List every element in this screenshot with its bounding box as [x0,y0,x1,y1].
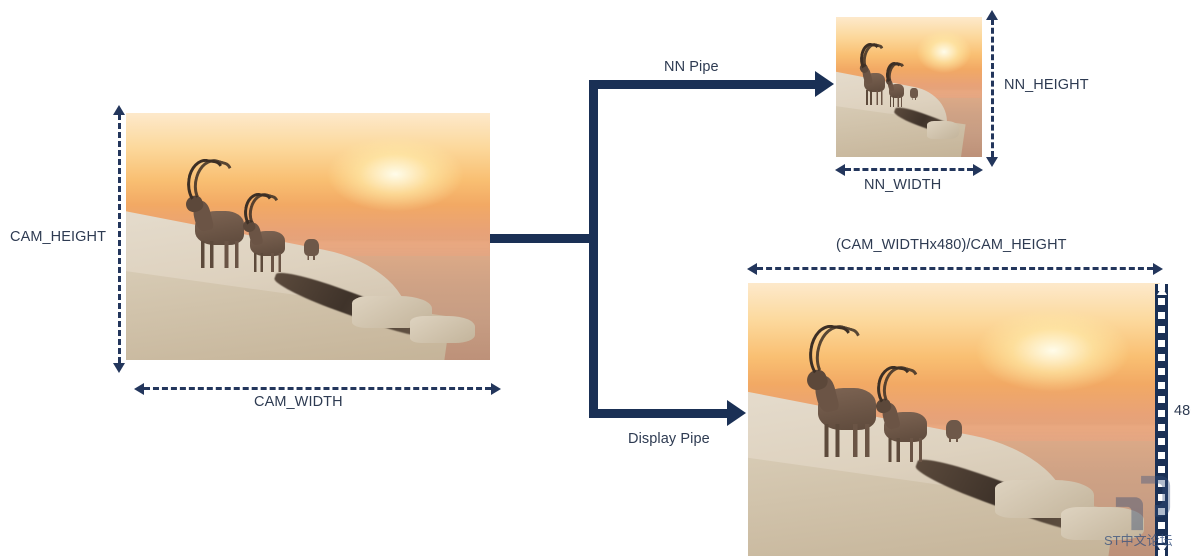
photo-ibex-kid [910,88,917,98]
display-width-arrow-left [747,263,757,275]
pipe-vertical-trunk [589,80,598,418]
ibex-legs [886,438,926,462]
ibex-legs [821,424,876,456]
ibex-legs [252,253,285,273]
nn-height-arrow-up [986,10,998,20]
nn-height-label: NN_HEIGHT [1004,78,1089,94]
ibex-legs [198,241,244,268]
cam-width-arrow-left [134,383,144,395]
display-width-label: (CAM_WIDTHx480)/CAM_HEIGHT [836,238,1067,254]
cam-height-dimension-line [118,114,121,363]
diagram-canvas: CAM_HEIGHT CAM_WIDTH NN Pipe Display Pip… [0,0,1191,556]
pipe-display-arrowhead [727,400,746,426]
pipe-nn-arrowhead [815,71,834,97]
cam-width-dimension-line [144,387,491,390]
nn-height-arrow-down [986,157,998,167]
cam-height-label: CAM_HEIGHT [10,230,106,246]
display-frame-image [748,283,1160,556]
photo-rock-slab [927,121,959,139]
cam-height-arrow-down [113,363,125,373]
nn-width-arrow-left [835,164,845,176]
camera-frame-image [126,113,490,360]
nn-width-arrow-right [973,164,983,176]
nn-pipe-label: NN Pipe [664,60,719,76]
display-width-dimension-line [757,267,1153,270]
display-pipe-label: Display Pipe [628,432,710,448]
display-height-label: 480 [1174,404,1191,420]
photo-ibex-small [250,217,297,271]
display-height-arrow-up [1157,287,1167,295]
cam-height-arrow-up [113,105,125,115]
pipe-nn-branch [589,80,817,89]
watermark-text: ST中文论坛 [1104,530,1173,549]
pipe-display-branch [589,409,729,418]
display-height-dimension-bar [1155,284,1168,556]
cam-width-arrow-right [491,383,501,395]
ibex-legs [889,96,903,107]
nn-width-dimension-line [845,168,973,171]
nn-input-frame-image [836,17,982,157]
photo-ibex-kid [946,420,962,439]
dimension-bar-ticks [1158,284,1165,556]
ibex-legs [865,90,885,105]
photo-ibex-small [889,76,909,107]
cam-width-label: CAM_WIDTH [254,395,343,411]
nn-height-dimension-line [991,19,994,157]
nn-width-label: NN_WIDTH [864,178,941,194]
photo-ibex-small [884,395,942,461]
display-width-arrow-right [1153,263,1163,275]
pipe-source-stem [490,234,598,243]
photo-rock-slab [410,316,476,343]
photo-ibex-kid [304,239,319,256]
